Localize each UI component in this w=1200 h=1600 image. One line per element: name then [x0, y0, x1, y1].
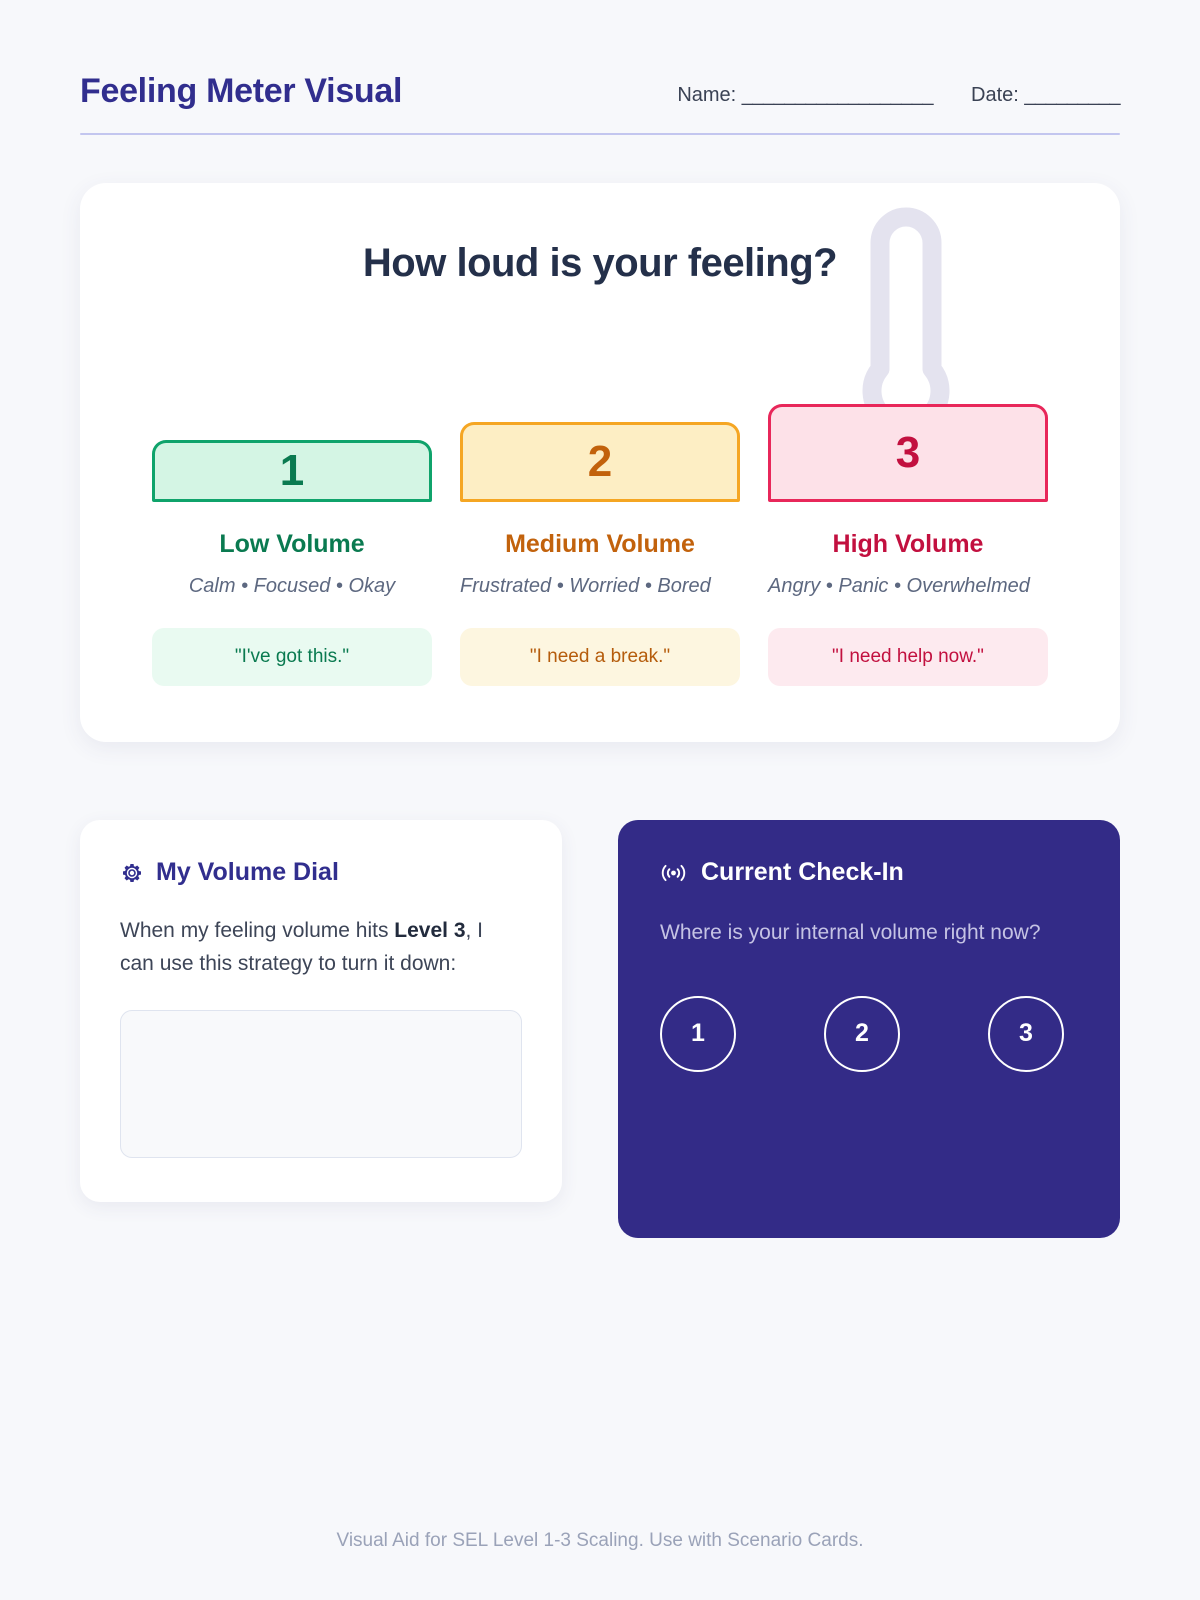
checkin-prompt: Where is your internal volume right now? [660, 917, 1078, 950]
checkin-option-3[interactable]: 3 [988, 996, 1064, 1072]
checkin-option-2[interactable]: 2 [824, 996, 900, 1072]
header-divider [80, 133, 1120, 135]
level-column-1: 1 Low Volume Calm • Focused • Okay [152, 440, 432, 602]
level-bars: 1 Low Volume Calm • Focused • Okay 2 Med… [152, 404, 1048, 602]
footer-note: Visual Aid for SEL Level 1-3 Scaling. Us… [80, 1530, 1120, 1600]
checkin-options: 1 2 3 [660, 996, 1078, 1072]
level-bar-1[interactable]: 1 [152, 440, 432, 502]
quote-pill-2: "I need a break." [460, 628, 740, 686]
level-quotes: "I've got this." "I need a break." "I ne… [152, 628, 1048, 686]
level-words-1: Calm • Focused • Okay [152, 571, 432, 602]
level-bar-3[interactable]: 3 [768, 404, 1048, 502]
level-bar-2[interactable]: 2 [460, 422, 740, 502]
checkin-title-text: Current Check-In [701, 858, 904, 887]
volume-dial-card: My Volume Dial When my feeling volume hi… [80, 820, 562, 1202]
level-words-2: Frustrated • Worried • Bored [460, 571, 740, 602]
volume-dial-title-text: My Volume Dial [156, 858, 339, 887]
feeling-meter-card: How loud is your feeling? 1 Low Volume C… [80, 183, 1120, 742]
quote-pill-3: "I need help now." [768, 628, 1048, 686]
volume-dial-title: My Volume Dial [120, 858, 522, 887]
dial-text-bold: Level 3 [394, 919, 465, 942]
date-label: Date: [971, 84, 1019, 106]
bottom-row: My Volume Dial When my feeling volume hi… [80, 820, 1120, 1238]
page-title: Feeling Meter Visual [80, 72, 402, 111]
level-name-2: Medium Volume [460, 530, 740, 559]
dial-text-before: When my feeling volume hits [120, 919, 394, 942]
signal-broadcast-icon [660, 862, 687, 884]
strategy-input-box[interactable] [120, 1010, 522, 1158]
checkin-title: Current Check-In [660, 858, 1078, 887]
level-number-3: 3 [896, 428, 920, 478]
volume-dial-text: When my feeling volume hits Level 3, I c… [120, 915, 522, 980]
level-number-1: 1 [280, 446, 304, 496]
level-number-2: 2 [588, 437, 612, 487]
level-name-3: High Volume [768, 530, 1048, 559]
level-words-3: Angry • Panic • Overwhelmed [768, 571, 1048, 602]
name-blank: __________________ [742, 84, 933, 106]
level-column-2: 2 Medium Volume Frustrated • Worried • B… [460, 422, 740, 602]
name-field[interactable]: Name: __________________ [677, 84, 933, 107]
date-field[interactable]: Date: _________ [971, 84, 1120, 107]
meta-fields: Name: __________________ Date: _________ [677, 84, 1120, 111]
current-checkin-card: Current Check-In Where is your internal … [618, 820, 1120, 1238]
header: Feeling Meter Visual Name: _____________… [80, 72, 1120, 133]
checkin-option-1[interactable]: 1 [660, 996, 736, 1072]
date-blank: _________ [1024, 84, 1120, 106]
level-column-3: 3 High Volume Angry • Panic • Overwhelme… [768, 404, 1048, 602]
meter-heading: How loud is your feeling? [152, 241, 1048, 286]
name-label: Name: [677, 84, 736, 106]
quote-pill-1: "I've got this." [152, 628, 432, 686]
worksheet-page: Feeling Meter Visual Name: _____________… [0, 0, 1200, 1600]
level-name-1: Low Volume [152, 530, 432, 559]
gear-icon [120, 861, 144, 885]
